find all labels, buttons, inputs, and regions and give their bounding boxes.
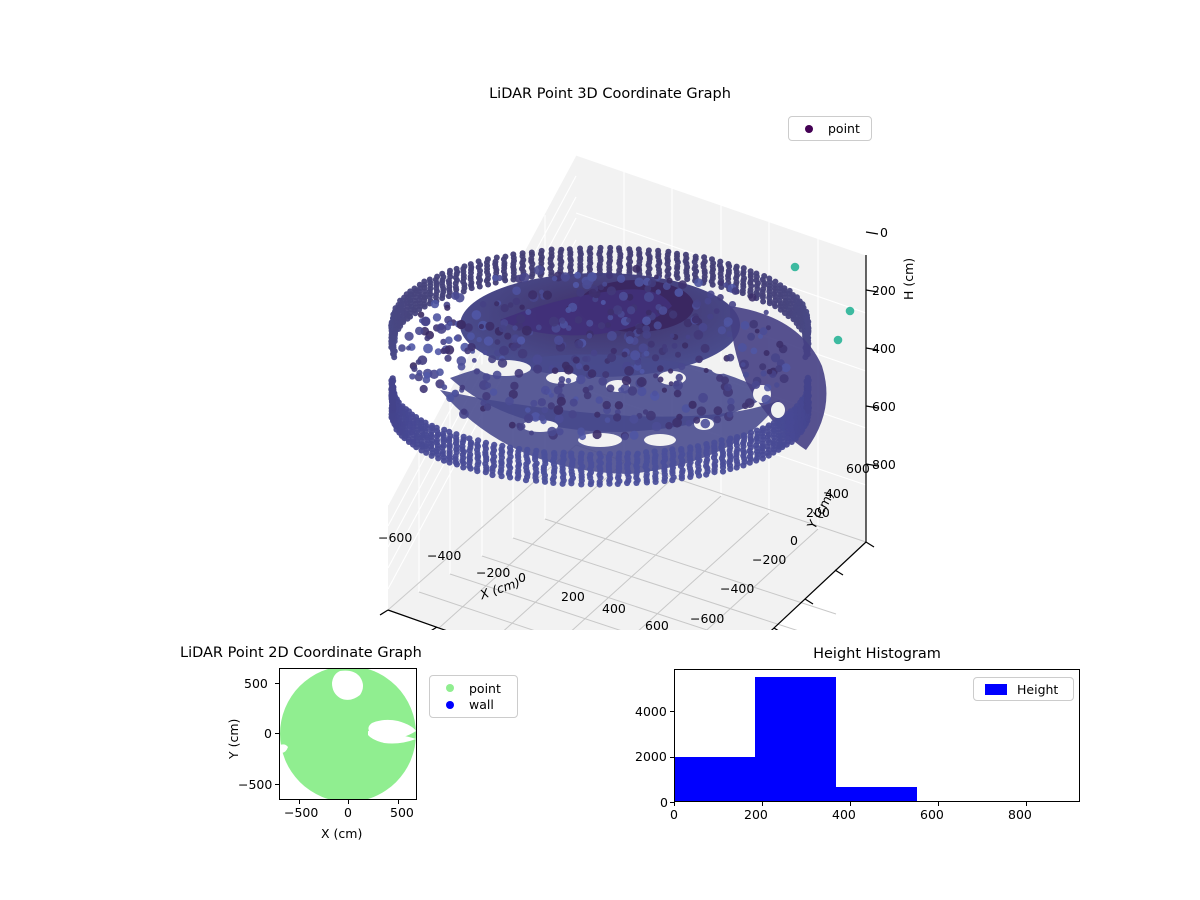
xhist-tickmark-800: [1026, 802, 1027, 806]
matplotlib-figure: LiDAR Point 3D Coordinate Graph point: [0, 0, 1200, 900]
yhist-tick-4000: 4000: [635, 704, 667, 719]
legend-entry-height: Height: [981, 682, 1066, 697]
x2d-tickmark--500: [299, 800, 300, 804]
y3d-tick-600: 600: [846, 461, 870, 476]
y3d-tick--600: −600: [690, 611, 724, 626]
scatter-2d-points: [280, 669, 416, 799]
y2d-tickmark-0: [275, 733, 279, 734]
y2d-tickmark-500: [275, 683, 279, 684]
wall-marker-icon: [437, 701, 463, 709]
yhist-tickmark-4000: [670, 711, 674, 712]
z3d-tick-600: 600: [872, 399, 896, 414]
x3d-tick--400: −400: [427, 548, 461, 563]
z3d-tick-0: 0: [880, 225, 888, 240]
xhist-tickmark-600: [938, 802, 939, 806]
legend-hist[interactable]: Height: [973, 677, 1074, 701]
x2d-tickmark-500: [398, 800, 399, 804]
hist-bar-0: [675, 757, 755, 801]
x3d-tick-600: 600: [645, 618, 669, 633]
y3d-tick--400: −400: [720, 581, 754, 596]
axes-2d-scatter[interactable]: [279, 668, 417, 800]
xhist-tickmark-200: [762, 802, 763, 806]
legend-2d[interactable]: point wall: [429, 675, 518, 718]
xhist-tick-0: 0: [670, 807, 678, 822]
x2d-tick--500: −500: [284, 805, 318, 820]
y2d-tick--500: −500: [238, 777, 272, 792]
legend-label-height: Height: [1011, 682, 1058, 697]
y2d-tick-0: 0: [264, 726, 272, 741]
xhist-tick-200: 200: [744, 807, 768, 822]
panel-2d-title: LiDAR Point 2D Coordinate Graph: [180, 645, 520, 661]
x3d-tick-200: 200: [561, 589, 585, 604]
z3d-tick-400: 400: [872, 341, 896, 356]
yhist-tick-2000: 2000: [635, 749, 667, 764]
yhist-tickmark-2000: [670, 757, 674, 758]
legend-label-point-2d: point: [463, 681, 501, 696]
legend-label-wall-2d: wall: [463, 697, 494, 712]
point-marker-icon: [437, 684, 463, 692]
y3d-tick--200: −200: [752, 552, 786, 567]
hist-bar-2: [836, 787, 917, 801]
panel-3d-title: LiDAR Point 3D Coordinate Graph: [380, 86, 840, 102]
y2d-tick-500: 500: [244, 676, 268, 691]
x3d-tick--600: −600: [378, 530, 412, 545]
z3d-tick-800: 800: [872, 457, 896, 472]
y2d-axis-label: Y (cm): [226, 719, 241, 759]
z3d-tick-200: 200: [872, 283, 896, 298]
yhist-tick-0: 0: [660, 795, 668, 810]
x2d-axis-label: X (cm): [321, 826, 362, 841]
xhist-tick-600: 600: [920, 807, 944, 822]
legend-entry-wall-2d: wall: [437, 697, 510, 714]
xhist-tick-800: 800: [1008, 807, 1032, 822]
legend-entry-point-2d: point: [437, 680, 510, 697]
x3d-tick-400: 400: [602, 601, 626, 616]
x2d-tick-500: 500: [390, 805, 414, 820]
x2d-tick-0: 0: [344, 805, 352, 820]
axes-3d-point-cloud[interactable]: [300, 110, 920, 630]
hist-bar-1: [755, 677, 836, 801]
xhist-tickmark-0: [674, 802, 675, 806]
y3d-tick-0: 0: [790, 533, 798, 548]
panel-hist-title: Height Histogram: [707, 646, 1047, 662]
xhist-tickmark-400: [850, 802, 851, 806]
z3d-axis-label: H (cm): [901, 258, 916, 300]
y2d-tickmark--500: [275, 784, 279, 785]
x2d-tickmark-0: [348, 800, 349, 804]
xhist-tick-400: 400: [832, 807, 856, 822]
height-patch-icon: [981, 684, 1011, 695]
